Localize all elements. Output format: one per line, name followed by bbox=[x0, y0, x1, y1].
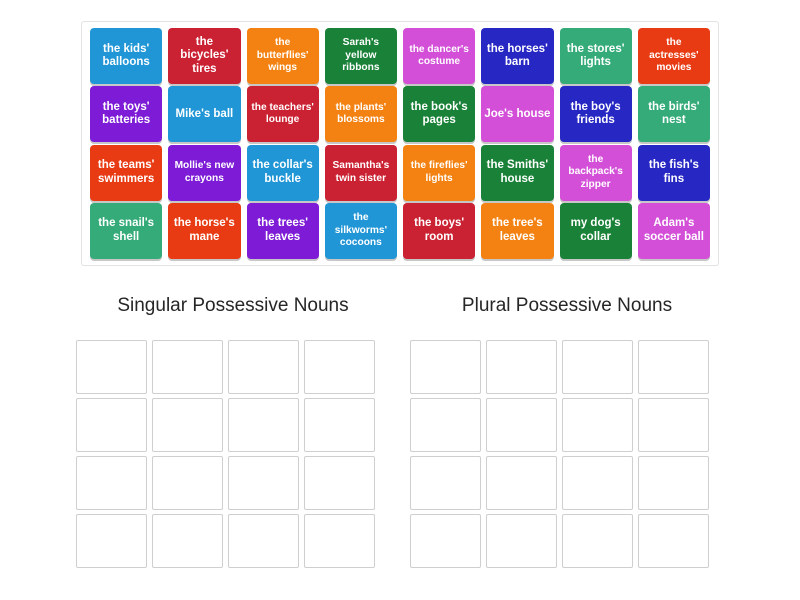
word-tile[interactable]: the horses' barn bbox=[481, 28, 553, 84]
drop-slot-singular[interactable] bbox=[304, 456, 375, 510]
word-tile[interactable]: Mike's ball bbox=[168, 86, 240, 142]
word-tile[interactable]: the kids' balloons bbox=[90, 28, 162, 84]
word-tile[interactable]: the Smiths' house bbox=[481, 145, 553, 201]
word-tile[interactable]: the backpack's zipper bbox=[560, 145, 632, 201]
drop-slot-singular[interactable] bbox=[76, 514, 147, 568]
word-tile[interactable]: the dancer's costume bbox=[403, 28, 475, 84]
drop-slot-plural[interactable] bbox=[486, 514, 557, 568]
word-tile[interactable]: the teachers' lounge bbox=[247, 86, 319, 142]
drop-slot-plural[interactable] bbox=[486, 398, 557, 452]
word-tile[interactable]: the boys' room bbox=[403, 203, 475, 259]
word-tile[interactable]: the horse's mane bbox=[168, 203, 240, 259]
drop-slot-plural[interactable] bbox=[562, 340, 633, 394]
word-tile[interactable]: the collar's buckle bbox=[247, 145, 319, 201]
word-tile[interactable]: the bicycles' tires bbox=[168, 28, 240, 84]
drop-slot-plural[interactable] bbox=[562, 456, 633, 510]
dropzone-group-plural[interactable] bbox=[410, 340, 734, 572]
drop-slot-plural[interactable] bbox=[638, 456, 709, 510]
word-tile[interactable]: the fireflies' lights bbox=[403, 145, 475, 201]
drop-slot-singular[interactable] bbox=[304, 340, 375, 394]
word-tile[interactable]: my dog's collar bbox=[560, 203, 632, 259]
tile-row: the toys' batteriesMike's ballthe teache… bbox=[87, 86, 713, 142]
drop-slot-plural[interactable] bbox=[638, 514, 709, 568]
drop-slot-singular[interactable] bbox=[228, 398, 299, 452]
drop-slot-plural[interactable] bbox=[410, 398, 481, 452]
word-tile[interactable]: Mollie's new crayons bbox=[168, 145, 240, 201]
drop-slot-plural[interactable] bbox=[410, 456, 481, 510]
word-tile[interactable]: the actresses' movies bbox=[638, 28, 710, 84]
word-tile[interactable]: the stores' lights bbox=[560, 28, 632, 84]
drop-slot-plural[interactable] bbox=[410, 340, 481, 394]
drop-slot-singular[interactable] bbox=[76, 456, 147, 510]
drop-slot-singular[interactable] bbox=[228, 340, 299, 394]
drop-slot-singular[interactable] bbox=[228, 456, 299, 510]
word-tile[interactable]: the teams' swimmers bbox=[90, 145, 162, 201]
dropzone-group-singular[interactable] bbox=[76, 340, 400, 572]
drop-slot-plural[interactable] bbox=[638, 340, 709, 394]
word-tile[interactable]: the plants' blossoms bbox=[325, 86, 397, 142]
drop-slot-plural[interactable] bbox=[562, 514, 633, 568]
word-tile[interactable]: Joe's house bbox=[481, 86, 553, 142]
tile-row: the snail's shellthe horse's manethe tre… bbox=[87, 203, 713, 259]
drop-slot-plural[interactable] bbox=[486, 456, 557, 510]
drop-slot-singular[interactable] bbox=[152, 456, 223, 510]
drop-slot-plural[interactable] bbox=[486, 340, 557, 394]
drop-slot-plural[interactable] bbox=[410, 514, 481, 568]
word-tile[interactable]: the butterflies' wings bbox=[247, 28, 319, 84]
word-tile[interactable]: the trees' leaves bbox=[247, 203, 319, 259]
word-tile[interactable]: Adam's soccer ball bbox=[638, 203, 710, 259]
word-tile[interactable]: the book's pages bbox=[403, 86, 475, 142]
tile-row: the kids' balloonsthe bicycles' tiresthe… bbox=[87, 28, 713, 84]
drop-slot-plural[interactable] bbox=[638, 398, 709, 452]
word-tile[interactable]: the boy's friends bbox=[560, 86, 632, 142]
word-tile[interactable]: the birds' nest bbox=[638, 86, 710, 142]
category-title-singular: Singular Possessive Nouns bbox=[73, 295, 393, 317]
word-tile[interactable]: Sarah's yellow ribbons bbox=[325, 28, 397, 84]
word-tile[interactable]: the fish's fins bbox=[638, 145, 710, 201]
word-tile[interactable]: Samantha's twin sister bbox=[325, 145, 397, 201]
group-sort-activity: the kids' balloonsthe bicycles' tiresthe… bbox=[0, 0, 800, 600]
drop-slot-singular[interactable] bbox=[304, 514, 375, 568]
drop-slot-singular[interactable] bbox=[152, 398, 223, 452]
drop-slot-singular[interactable] bbox=[304, 398, 375, 452]
category-title-plural: Plural Possessive Nouns bbox=[407, 295, 727, 317]
drop-slot-singular[interactable] bbox=[76, 398, 147, 452]
drop-slot-singular[interactable] bbox=[152, 340, 223, 394]
drop-slot-plural[interactable] bbox=[562, 398, 633, 452]
word-tile-tray: the kids' balloonsthe bicycles' tiresthe… bbox=[81, 21, 719, 266]
drop-slot-singular[interactable] bbox=[228, 514, 299, 568]
drop-slot-singular[interactable] bbox=[152, 514, 223, 568]
word-tile[interactable]: the toys' batteries bbox=[90, 86, 162, 142]
word-tile[interactable]: the silkworms' cocoons bbox=[325, 203, 397, 259]
word-tile[interactable]: the tree's leaves bbox=[481, 203, 553, 259]
tile-row: the teams' swimmersMollie's new crayonst… bbox=[87, 145, 713, 201]
word-tile[interactable]: the snail's shell bbox=[90, 203, 162, 259]
drop-slot-singular[interactable] bbox=[76, 340, 147, 394]
